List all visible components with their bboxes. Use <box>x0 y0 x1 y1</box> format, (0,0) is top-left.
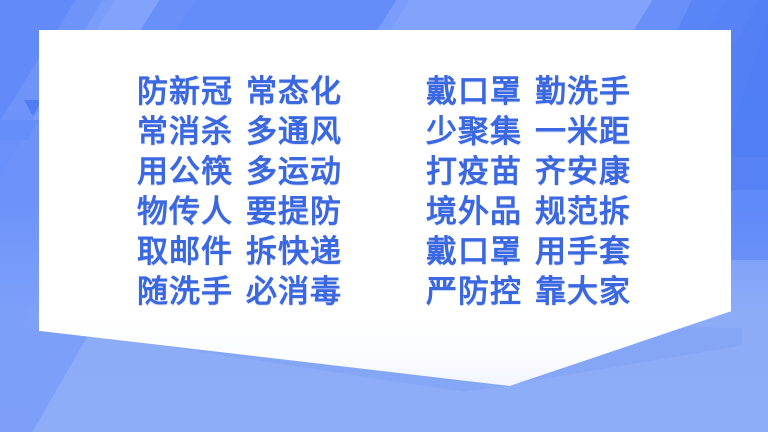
slogan-phrase-a: 常消杀 <box>137 114 233 150</box>
slogan-line: 常消杀多通风 <box>137 116 385 149</box>
slogan-phrase-b: 规范拆 <box>535 194 631 230</box>
slogan-phrase-a: 用公筷 <box>137 154 233 190</box>
slogan-line: 物传人要提防 <box>137 196 385 229</box>
slogan-phrase-b: 用手套 <box>535 234 631 270</box>
slogan-phrase-b: 常态化 <box>246 74 342 110</box>
slogan-phrase-b: 一米距 <box>535 114 631 150</box>
slogan-line: 少聚集一米距 <box>426 116 731 149</box>
slogan-line: 戴口罩勤洗手 <box>426 76 731 109</box>
slogan-phrase-b: 勤洗手 <box>535 74 631 110</box>
slogan-line: 用公筷多运动 <box>137 156 385 189</box>
slogan-phrase-a: 严防控 <box>426 274 522 310</box>
slogan-phrase-a: 防新冠 <box>137 74 233 110</box>
slogan-phrase-b: 拆快递 <box>246 234 342 270</box>
slogan-phrase-a: 少聚集 <box>426 114 522 150</box>
slogan-line: 取邮件拆快递 <box>137 236 385 269</box>
slogan-grid: 防新冠常态化 常消杀多通风 用公筷多运动 物传人要提防 取邮件拆快递 随洗手必消… <box>39 30 731 386</box>
slogan-phrase-a: 随洗手 <box>137 274 233 310</box>
slogan-phrase-a: 物传人 <box>137 194 233 230</box>
slogan-phrase-a: 戴口罩 <box>426 234 522 270</box>
slogan-line: 戴口罩用手套 <box>426 236 731 269</box>
slogan-phrase-a: 取邮件 <box>137 234 233 270</box>
slogan-line: 境外品规范拆 <box>426 196 731 229</box>
slogan-line: 严防控靠大家 <box>426 276 731 309</box>
slogan-phrase-a: 境外品 <box>426 194 522 230</box>
slogan-line: 防新冠常态化 <box>137 76 385 109</box>
slogan-phrase-b: 必消毒 <box>246 274 342 310</box>
slogan-phrase-b: 齐安康 <box>535 154 631 190</box>
slogan-column-right: 戴口罩勤洗手 少聚集一米距 打疫苗齐安康 境外品规范拆 戴口罩用手套 严防控靠大… <box>385 76 731 309</box>
slogan-phrase-a: 打疫苗 <box>426 154 522 190</box>
poster-canvas: 防新冠常态化 常消杀多通风 用公筷多运动 物传人要提防 取邮件拆快递 随洗手必消… <box>0 0 768 432</box>
slogan-phrase-b: 多通风 <box>246 114 342 150</box>
slogan-phrase-b: 靠大家 <box>535 274 631 310</box>
slogan-phrase-a: 戴口罩 <box>426 74 522 110</box>
slogan-phrase-b: 要提防 <box>246 194 342 230</box>
slogan-column-left: 防新冠常态化 常消杀多通风 用公筷多运动 物传人要提防 取邮件拆快递 随洗手必消… <box>39 76 385 309</box>
slogan-line: 随洗手必消毒 <box>137 276 385 309</box>
slogan-line: 打疫苗齐安康 <box>426 156 731 189</box>
slogan-phrase-b: 多运动 <box>246 154 342 190</box>
